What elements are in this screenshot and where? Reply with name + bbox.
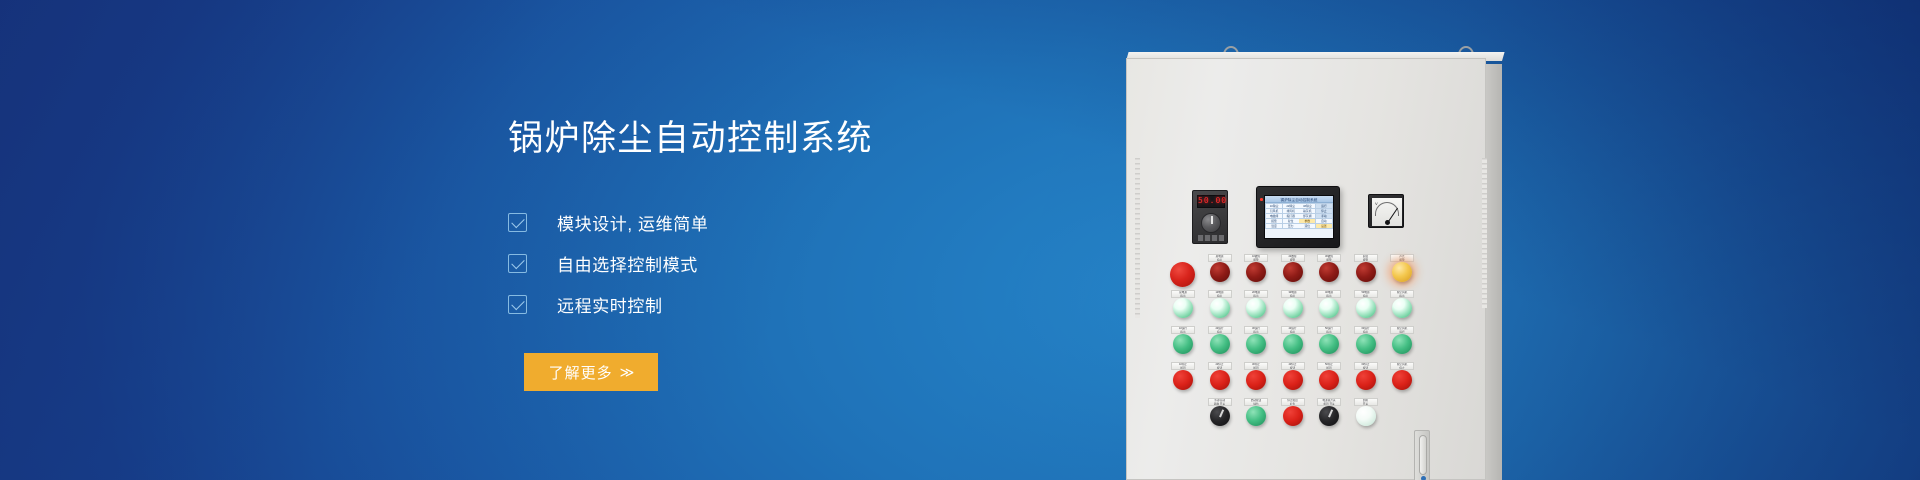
indicator-power-5-lamp-icon[interactable] — [1319, 298, 1339, 318]
indicator-power-1[interactable]: 总电源 指示 — [1166, 290, 1200, 324]
hmi-cell[interactable]: 2#除尘 — [1283, 204, 1299, 208]
stop-button-7-lamp-icon[interactable] — [1392, 370, 1412, 390]
checkbox-check-icon — [508, 213, 527, 232]
stop-button-4[interactable]: 4#停止 按钮 — [1276, 362, 1310, 396]
cabinet-side-face — [1486, 64, 1502, 480]
selector-manual-auto[interactable]: 手动/自动 转换 开关 — [1203, 398, 1237, 432]
meter-needle-hub — [1385, 220, 1390, 225]
hmi-cell[interactable]: 压力 — [1283, 224, 1299, 228]
indicator-power-4-lamp-icon[interactable] — [1283, 298, 1303, 318]
hero-content: 锅炉除尘自动控制系统 模块设计, 运维简单 自由选择控制模式 远程实时控制 了解… — [508, 118, 1068, 391]
hmi-screen[interactable]: 锅炉除尘自动控制系统 1#除尘2#除尘3#除尘运行引风机排风机输灰机停止电磁阀振… — [1264, 195, 1334, 239]
stop-button-2[interactable]: 2#停止 按钮 — [1203, 362, 1237, 396]
indicator-fault-1-lamp-icon[interactable] — [1246, 262, 1266, 282]
emergency-stop-button[interactable] — [1166, 254, 1200, 288]
indicator-power-3[interactable]: 2#电源 指示 — [1239, 290, 1273, 324]
indicator-power-4[interactable]: 3#电源 指示 — [1276, 290, 1310, 324]
run-indicator-row: 1#运行 指示2#运行 指示3#运行 指示4#运行 指示5#运行 指示6#运行 … — [1166, 326, 1456, 362]
page-title: 锅炉除尘自动控制系统 — [508, 118, 1068, 160]
indicator-fault-1[interactable]: 1#故障 报警 — [1239, 254, 1273, 288]
hmi-cell[interactable]: 输灰机 — [1299, 209, 1315, 213]
indicator-run-6[interactable]: 6#运行 指示 — [1349, 326, 1383, 360]
vent-slots-icon — [1482, 158, 1487, 308]
feature-list: 模块设计, 运维简单 自由选择控制模式 远程实时控制 — [508, 202, 1068, 324]
button-label-tag: 1#故障 报警 — [1244, 254, 1268, 262]
feature-label: 自由选择控制模式 — [557, 251, 698, 276]
button-label-tag: 照明 开关 — [1354, 398, 1378, 406]
hmi-cell[interactable]: 复位 — [1283, 219, 1299, 223]
button-label-tag: 除尘风机 指示 — [1390, 290, 1414, 298]
hmi-cell[interactable]: 引风机 — [1266, 209, 1282, 213]
indicator-run-1[interactable]: 1#运行 指示 — [1166, 326, 1200, 360]
indicator-power-2-lamp-icon[interactable] — [1210, 298, 1230, 318]
indicator-run-3[interactable]: 3#运行 指示 — [1239, 326, 1273, 360]
button-label-tag: 3#停止 按钮 — [1244, 362, 1268, 370]
button-label-tag: 超温 报警 — [1354, 254, 1378, 262]
stop-button-red-lamp-icon[interactable] — [1283, 406, 1303, 426]
door-handle[interactable] — [1414, 430, 1430, 480]
stop-button-7[interactable]: 除尘风机 停止 — [1385, 362, 1419, 396]
door-lock-icon[interactable] — [1421, 476, 1426, 480]
pushbutton-matrix[interactable]: 总电源 指示1#故障 报警2#故障 报警3#故障 报警超温 报警声光 报警总电源… — [1166, 254, 1456, 434]
indicator-run-5-lamp-icon[interactable] — [1319, 334, 1339, 354]
indicator-power-7[interactable]: 除尘风机 指示 — [1385, 290, 1419, 324]
button-label-tag: 停止按钮 红色 — [1281, 398, 1305, 406]
indicator-audible-alarm[interactable]: 声光 报警 — [1385, 254, 1419, 288]
button-label-tag: 1#运行 指示 — [1171, 326, 1195, 334]
selector-main-power[interactable]: 电源总开关 旋钮 开关 — [1312, 398, 1346, 432]
button-label-tag: 电源总开关 旋钮 开关 — [1317, 398, 1341, 406]
indicator-power-2[interactable]: 1#电源 指示 — [1203, 290, 1237, 324]
button-label-tag: 总电源 指示 — [1171, 290, 1195, 298]
hmi-cell[interactable]: 3#除尘 — [1299, 204, 1315, 208]
rotary-knob-icon[interactable] — [1201, 213, 1221, 233]
indicator-run-7[interactable]: 除尘风机 运行 — [1385, 326, 1419, 360]
hmi-cell[interactable]: 1#除尘 — [1266, 204, 1282, 208]
button-label-tag: 4#电源 指示 — [1317, 290, 1341, 298]
drive-display-value: 50.00 — [1198, 196, 1227, 205]
selector-switch-row: 手动/自动 转换 开关启动按钮 绿色停止按钮 红色电源总开关 旋钮 开关照明 开… — [1166, 398, 1456, 434]
indicator-overtemp[interactable]: 超温 报警 — [1349, 254, 1383, 288]
indicator-run-7-lamp-icon[interactable] — [1392, 334, 1412, 354]
button-label-tag: 3#电源 指示 — [1281, 290, 1305, 298]
hmi-cell[interactable]: 停止 — [1316, 209, 1332, 213]
hmi-cell[interactable]: 液位 — [1299, 224, 1315, 228]
stop-button-2-lamp-icon[interactable] — [1210, 370, 1230, 390]
hmi-cell[interactable]: 卸灰阀 — [1299, 214, 1315, 218]
indicator-power-3-lamp-icon[interactable] — [1246, 298, 1266, 318]
button-label-tag: 2#停止 按钮 — [1208, 362, 1232, 370]
indicator-fault-2[interactable]: 2#故障 报警 — [1276, 254, 1310, 288]
indicator-run-2[interactable]: 2#运行 指示 — [1203, 326, 1237, 360]
indicator-audible-alarm-lamp-icon[interactable] — [1392, 262, 1412, 282]
hero-banner: 锅炉除尘自动控制系统 模块设计, 运维简单 自由选择控制模式 远程实时控制 了解… — [0, 0, 1920, 480]
double-chevron-right-icon: ≫ — [620, 364, 634, 381]
indicator-run-2-lamp-icon[interactable] — [1210, 334, 1230, 354]
lighting-switch-lamp-icon[interactable] — [1356, 406, 1376, 426]
button-label-tag: 4#运行 指示 — [1281, 326, 1305, 334]
checkbox-check-icon — [508, 295, 527, 314]
stop-button-5[interactable]: 5#停止 按钮 — [1312, 362, 1346, 396]
hmi-cell[interactable]: 电磁阀 — [1266, 214, 1282, 218]
frequency-drive-module[interactable]: 50.00 — [1192, 190, 1228, 244]
vent-slots-icon — [1135, 158, 1140, 318]
button-label-tag: 启动按钮 绿色 — [1244, 398, 1268, 406]
button-label-tag: 4#停止 按钮 — [1281, 362, 1305, 370]
analog-voltmeter: V — [1368, 194, 1404, 228]
indicator-run-5[interactable]: 5#运行 指示 — [1312, 326, 1346, 360]
indicator-run-4[interactable]: 4#运行 指示 — [1276, 326, 1310, 360]
stop-button-6[interactable]: 6#停止 按钮 — [1349, 362, 1383, 396]
button-label-tag: 除尘风机 运行 — [1390, 326, 1414, 334]
indicator-run-1-lamp-icon[interactable] — [1173, 334, 1193, 354]
hmi-cell[interactable]: 振打器 — [1283, 214, 1299, 218]
learn-more-label: 了解更多 — [549, 362, 613, 383]
hmi-cell[interactable]: 设置 — [1316, 224, 1332, 228]
learn-more-button[interactable]: 了解更多 ≫ — [524, 353, 658, 391]
stop-button-1[interactable]: 1#停止 按钮 — [1166, 362, 1200, 396]
button-label-tag: 1#停止 按钮 — [1171, 362, 1195, 370]
button-label-tag: 3#运行 指示 — [1244, 326, 1268, 334]
hmi-cell[interactable]: 温度 — [1266, 224, 1282, 228]
stop-button-1-lamp-icon[interactable] — [1173, 370, 1193, 390]
stop-button-3[interactable]: 3#停止 按钮 — [1239, 362, 1273, 396]
indicator-overtemp-lamp-icon[interactable] — [1356, 262, 1376, 282]
hmi-touch-panel[interactable]: 锅炉除尘自动控制系统 1#除尘2#除尘3#除尘运行引风机排风机输灰机停止电磁阀振… — [1256, 186, 1340, 248]
selector-manual-auto-lamp-icon[interactable] — [1210, 406, 1230, 426]
button-label-tag: 除尘风机 停止 — [1390, 362, 1414, 370]
power-indicator-row: 总电源 指示1#电源 指示2#电源 指示3#电源 指示4#电源 指示5#电源 指… — [1166, 290, 1456, 326]
hmi-cell[interactable]: 排风机 — [1283, 209, 1299, 213]
list-item: 自由选择控制模式 — [508, 243, 1068, 283]
button-label-tag: 2#故障 报警 — [1281, 254, 1305, 262]
stop-button-row: 1#停止 按钮2#停止 按钮3#停止 按钮4#停止 按钮5#停止 按钮6#停止 … — [1166, 362, 1456, 398]
indicator-run-3-lamp-icon[interactable] — [1246, 334, 1266, 354]
indicator-fault-2-lamp-icon[interactable] — [1283, 262, 1303, 282]
meter-face: V — [1372, 198, 1402, 226]
hmi-cell-grid[interactable]: 1#除尘2#除尘3#除尘运行引风机排风机输灰机停止电磁阀振打器卸灰阀手动报警复位… — [1265, 203, 1333, 229]
feature-label: 模块设计, 运维简单 — [557, 210, 708, 235]
button-label-tag: 总电源 指示 — [1208, 254, 1232, 262]
indicator-fault-3[interactable]: 3#故障 报警 — [1312, 254, 1346, 288]
checkbox-check-icon — [508, 254, 527, 273]
button-label-tag: 5#电源 指示 — [1354, 290, 1378, 298]
stop-button-6-lamp-icon[interactable] — [1356, 370, 1376, 390]
indicator-run-4-lamp-icon[interactable] — [1283, 334, 1303, 354]
button-label-tag: 5#运行 指示 — [1317, 326, 1341, 334]
hmi-power-led-icon — [1260, 198, 1263, 201]
lighting-switch[interactable]: 照明 开关 — [1349, 398, 1383, 432]
button-label-tag: 2#运行 指示 — [1208, 326, 1232, 334]
button-label-tag: 1#电源 指示 — [1208, 290, 1232, 298]
indicator-run-6-lamp-icon[interactable] — [1356, 334, 1376, 354]
drive-keypad[interactable] — [1198, 235, 1224, 241]
hmi-cell[interactable]: 手动 — [1316, 214, 1332, 218]
button-label-tag: 手动/自动 转换 开关 — [1208, 398, 1232, 406]
hmi-cell[interactable]: 参数 — [1299, 219, 1315, 223]
indicator-power-6-lamp-icon[interactable] — [1356, 298, 1376, 318]
indicator-main-power-lamp-icon[interactable] — [1210, 262, 1230, 282]
button-label-tag: 声光 报警 — [1390, 254, 1414, 262]
indicator-fault-3-lamp-icon[interactable] — [1319, 262, 1339, 282]
indicator-power-1-lamp-icon[interactable] — [1173, 298, 1193, 318]
start-button-green[interactable]: 启动按钮 绿色 — [1239, 398, 1273, 432]
emergency-stop-button-lamp-icon[interactable] — [1170, 262, 1195, 287]
list-item: 远程实时控制 — [508, 284, 1068, 324]
hmi-cell[interactable]: 自动 — [1316, 219, 1332, 223]
indicator-main-power[interactable]: 总电源 指示 — [1203, 254, 1237, 288]
list-item: 模块设计, 运维简单 — [508, 202, 1068, 242]
indicator-power-7-lamp-icon[interactable] — [1392, 298, 1412, 318]
hmi-cell[interactable]: 运行 — [1316, 204, 1332, 208]
control-cabinet-image: 50.00 锅炉除尘自动控制系统 1#除尘2#除尘3#除尘运行引风机排风机输灰机… — [1120, 0, 1590, 480]
stop-button-4-lamp-icon[interactable] — [1283, 370, 1303, 390]
emergency-and-alarm-row: 总电源 指示1#故障 报警2#故障 报警3#故障 报警超温 报警声光 报警 — [1166, 254, 1456, 290]
selector-main-power-lamp-icon[interactable] — [1319, 406, 1339, 426]
stop-button-5-lamp-icon[interactable] — [1319, 370, 1339, 390]
hmi-titlebar: 锅炉除尘自动控制系统 — [1265, 196, 1333, 203]
hmi-screen-title: 锅炉除尘自动控制系统 — [1281, 197, 1318, 203]
button-label-tag: 3#故障 报警 — [1317, 254, 1341, 262]
button-label-tag: 2#电源 指示 — [1244, 290, 1268, 298]
feature-label: 远程实时控制 — [557, 292, 663, 317]
stop-button-3-lamp-icon[interactable] — [1246, 370, 1266, 390]
indicator-power-5[interactable]: 4#电源 指示 — [1312, 290, 1346, 324]
hmi-cell[interactable]: 报警 — [1266, 219, 1282, 223]
start-button-green-lamp-icon[interactable] — [1246, 406, 1266, 426]
stop-button-red[interactable]: 停止按钮 红色 — [1276, 398, 1310, 432]
cabinet-front-panel: 50.00 锅炉除尘自动控制系统 1#除尘2#除尘3#除尘运行引风机排风机输灰机… — [1126, 58, 1486, 480]
button-label-tag: 5#停止 按钮 — [1317, 362, 1341, 370]
door-handle-slot — [1419, 435, 1427, 475]
indicator-power-6[interactable]: 5#电源 指示 — [1349, 290, 1383, 324]
button-label-tag: 6#停止 按钮 — [1354, 362, 1378, 370]
button-label-tag: 6#运行 指示 — [1354, 326, 1378, 334]
